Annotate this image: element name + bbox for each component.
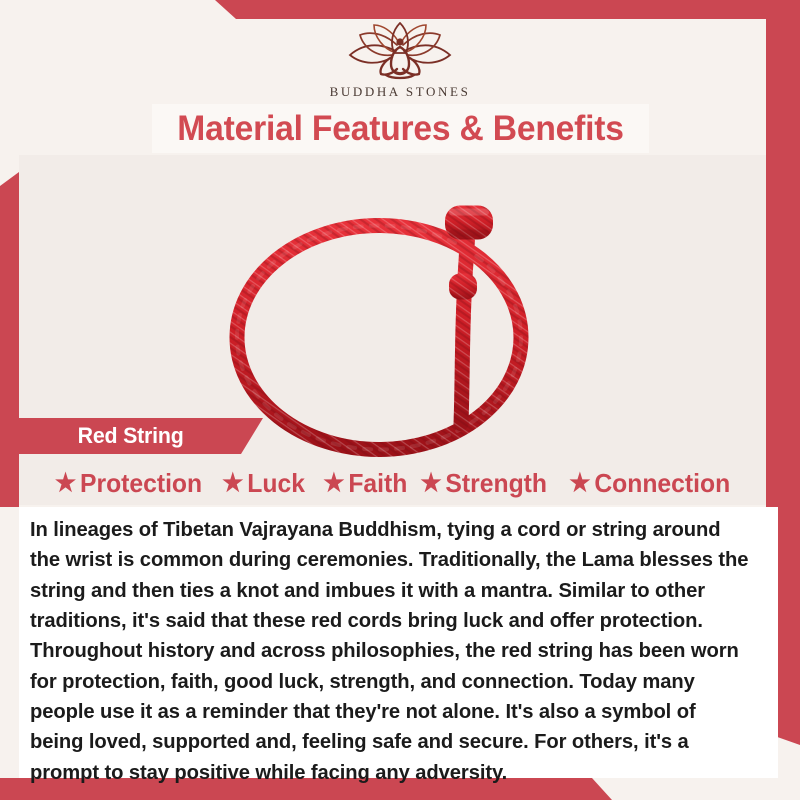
- title-band: Material Features & Benefits: [152, 104, 649, 153]
- lotus-meditation-icon: [334, 21, 466, 83]
- benefit-keyword-connection: ★ Connection: [569, 468, 730, 499]
- description-text: In lineages of Tibetan Vajrayana Buddhis…: [30, 515, 749, 788]
- benefit-keywords: ★ Protection ★ Luck ★ Faith ★ Strength ★…: [19, 463, 766, 503]
- benefit-keyword-faith: ★ Faith: [323, 468, 407, 499]
- red-string-ribbon: Red String: [19, 418, 263, 454]
- ribbon-label: Red String: [78, 423, 184, 449]
- brand-wordmark: BUDDHA STONES: [330, 84, 471, 100]
- star-icon: ★: [421, 471, 442, 496]
- benefit-keyword-label: Luck: [247, 468, 305, 499]
- star-icon: ★: [323, 471, 344, 496]
- brand-header: BUDDHA STONES: [0, 21, 800, 105]
- benefit-keyword-label: Protection: [80, 468, 202, 499]
- decor-top-red-bar: [0, 0, 800, 19]
- benefit-keyword-label: Connection: [594, 468, 730, 499]
- star-icon: ★: [55, 471, 76, 496]
- benefit-keyword-label: Strength: [446, 468, 548, 499]
- description-panel: In lineages of Tibetan Vajrayana Buddhis…: [19, 507, 778, 778]
- star-icon: ★: [569, 471, 590, 496]
- benefit-keyword-luck: ★ Luck: [222, 468, 305, 499]
- decor-left-red-bar: [0, 172, 19, 507]
- benefit-keyword-strength: ★ Strength: [421, 468, 548, 499]
- benefit-keyword-label: Faith: [348, 468, 407, 499]
- poster-root: BUDDHA STONES Material Features & Benefi…: [0, 0, 800, 800]
- page-title: Material Features & Benefits: [177, 109, 624, 149]
- benefit-keyword-protection: ★ Protection: [55, 468, 202, 499]
- star-icon: ★: [222, 471, 243, 496]
